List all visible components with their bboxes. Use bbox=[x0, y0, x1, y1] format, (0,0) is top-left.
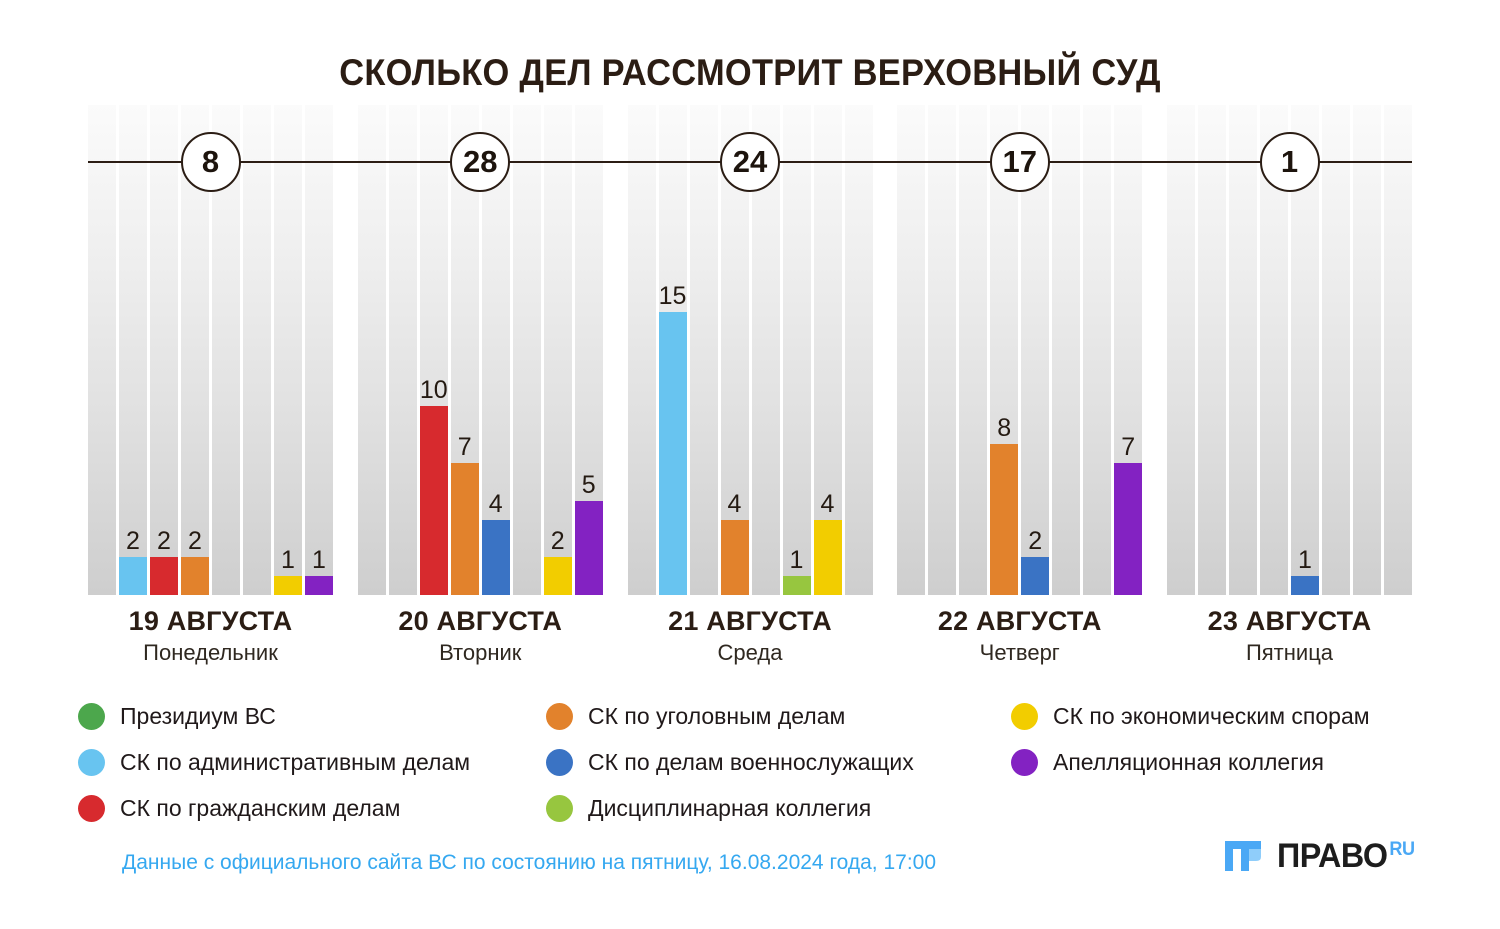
legend-label: Президиум ВС bbox=[120, 705, 276, 728]
day-caption: 22 АВГУСТАЧетверг bbox=[897, 606, 1142, 667]
bar-slot bbox=[1353, 105, 1381, 595]
bar-slot bbox=[1229, 105, 1257, 595]
day-total-badge: 1 bbox=[1260, 132, 1320, 192]
bar-value-label: 2 bbox=[157, 529, 171, 557]
day-date-label: 21 АВГУСТА bbox=[628, 606, 873, 636]
legend-color-swatch-icon bbox=[1011, 749, 1038, 776]
bar[interactable]: 1 bbox=[274, 576, 302, 595]
legend-color-swatch-icon bbox=[78, 795, 105, 822]
legend-column: Президиум ВССК по административным делам… bbox=[78, 700, 546, 825]
day-weekday-label: Четверг bbox=[897, 639, 1142, 667]
day-date-label: 19 АВГУСТА bbox=[88, 606, 333, 636]
bar-slot bbox=[845, 105, 873, 595]
legend-column: СК по уголовным деламСК по делам военнос… bbox=[546, 700, 1011, 825]
bar-slot bbox=[513, 105, 541, 595]
bar[interactable]: 8 bbox=[990, 444, 1018, 595]
bar-value-label: 4 bbox=[489, 492, 503, 520]
legend-item[interactable]: Дисциплинарная коллегия bbox=[546, 792, 1011, 825]
day-caption: 19 АВГУСТАПонедельник bbox=[88, 606, 333, 667]
page-title: СКОЛЬКО ДЕЛ РАССМОТРИТ ВЕРХОВНЫЙ СУД bbox=[53, 52, 1448, 94]
bar-slot bbox=[358, 105, 386, 595]
bar[interactable]: 7 bbox=[451, 463, 479, 595]
bar[interactable]: 1 bbox=[1291, 576, 1319, 595]
bar[interactable]: 2 bbox=[1021, 557, 1049, 595]
day-caption: 21 АВГУСТАСреда bbox=[628, 606, 873, 667]
bar-slot bbox=[959, 105, 987, 595]
bar[interactable]: 2 bbox=[119, 557, 147, 595]
bar-value-label: 7 bbox=[1121, 435, 1135, 463]
day-date-label: 22 АВГУСТА bbox=[897, 606, 1142, 636]
legend-color-swatch-icon bbox=[78, 749, 105, 776]
bar-slot bbox=[897, 105, 925, 595]
bar-slot: 1 bbox=[305, 105, 333, 595]
bar[interactable]: 1 bbox=[783, 576, 811, 595]
bar-slot bbox=[88, 105, 116, 595]
bar-value-label: 1 bbox=[281, 548, 295, 576]
day-caption: 23 АВГУСТАПятница bbox=[1167, 606, 1412, 667]
legend-item[interactable]: СК по делам военнослужащих bbox=[546, 746, 1011, 779]
bar[interactable]: 5 bbox=[575, 501, 603, 595]
bar[interactable]: 10 bbox=[420, 406, 448, 595]
bar-slot bbox=[1384, 105, 1412, 595]
legend-label: СК по гражданским делам bbox=[120, 797, 400, 820]
logo-wordmark: ПРАВОRU bbox=[1277, 839, 1415, 873]
bar-slot: 2 bbox=[119, 105, 147, 595]
bar-slot bbox=[389, 105, 417, 595]
bar-value-label: 1 bbox=[312, 548, 326, 576]
bar-slot: 1 bbox=[274, 105, 302, 595]
bar[interactable]: 4 bbox=[814, 520, 842, 595]
legend-item[interactable]: СК по гражданским делам bbox=[78, 792, 546, 825]
legend-color-swatch-icon bbox=[546, 795, 573, 822]
day-date-label: 20 АВГУСТА bbox=[358, 606, 603, 636]
bar-value-label: 4 bbox=[728, 492, 742, 520]
bar-slot: 10 bbox=[420, 105, 448, 595]
logo-main-text: ПРАВО bbox=[1277, 837, 1388, 875]
bar[interactable]: 4 bbox=[721, 520, 749, 595]
bar-value-label: 1 bbox=[1298, 548, 1312, 576]
bar-slot bbox=[1322, 105, 1350, 595]
legend-color-swatch-icon bbox=[78, 703, 105, 730]
bar-slot bbox=[1198, 105, 1226, 595]
bar-slot: 5 bbox=[575, 105, 603, 595]
legend-color-swatch-icon bbox=[546, 749, 573, 776]
legend-column: СК по экономическим спорамАпелляционная … bbox=[1011, 700, 1471, 825]
legend-label: СК по административным делам bbox=[120, 751, 470, 774]
legend-label: СК по экономическим спорам bbox=[1053, 705, 1370, 728]
legend-item[interactable]: СК по уголовным делам bbox=[546, 700, 1011, 733]
bar[interactable]: 4 bbox=[482, 520, 510, 595]
totals-timeline: 82824171 bbox=[88, 161, 1412, 163]
day-weekday-label: Понедельник bbox=[88, 639, 333, 667]
bar-slot bbox=[243, 105, 271, 595]
infographic-root: СКОЛЬКО ДЕЛ РАССМОТРИТ ВЕРХОВНЫЙ СУД 222… bbox=[0, 0, 1500, 929]
bar-value-label: 15 bbox=[659, 284, 687, 312]
legend-label: СК по делам военнослужащих bbox=[588, 751, 914, 774]
bar-slot: 2 bbox=[544, 105, 572, 595]
day-weekday-label: Среда bbox=[628, 639, 873, 667]
bar[interactable]: 2 bbox=[150, 557, 178, 595]
bar-value-label: 2 bbox=[551, 529, 565, 557]
day-captions: 19 АВГУСТАПонедельник20 АВГУСТАВторник21… bbox=[88, 606, 1412, 667]
day-total-badge: 24 bbox=[720, 132, 780, 192]
legend-label: Дисциплинарная коллегия bbox=[588, 797, 871, 820]
legend-label: Апелляционная коллегия bbox=[1053, 751, 1324, 774]
day-total-badge: 28 bbox=[450, 132, 510, 192]
bar-value-label: 2 bbox=[1028, 529, 1042, 557]
day-date-label: 23 АВГУСТА bbox=[1167, 606, 1412, 636]
bar-slot: 2 bbox=[150, 105, 178, 595]
bar-slot bbox=[1052, 105, 1080, 595]
pravo-ru-logo[interactable]: ПРАВОRU bbox=[1223, 838, 1422, 874]
bar-slot: 1 bbox=[783, 105, 811, 595]
bar-value-label: 7 bbox=[458, 435, 472, 463]
bar-slot bbox=[1083, 105, 1111, 595]
legend-label: СК по уголовным делам bbox=[588, 705, 845, 728]
day-total-badge: 17 bbox=[990, 132, 1050, 192]
legend-item[interactable]: СК по административным делам bbox=[78, 746, 546, 779]
footer-source-note: Данные с официального сайта ВС по состоя… bbox=[122, 851, 936, 875]
bar[interactable]: 15 bbox=[659, 312, 687, 595]
day-weekday-label: Пятница bbox=[1167, 639, 1412, 667]
bar[interactable]: 1 bbox=[305, 576, 333, 595]
bar[interactable]: 2 bbox=[181, 557, 209, 595]
bar-slot: 15 bbox=[659, 105, 687, 595]
bar[interactable]: 2 bbox=[544, 557, 572, 595]
bar-value-label: 2 bbox=[126, 529, 140, 557]
bar-value-label: 2 bbox=[188, 529, 202, 557]
day-caption: 20 АВГУСТАВторник bbox=[358, 606, 603, 667]
bar[interactable]: 7 bbox=[1114, 463, 1142, 595]
day-weekday-label: Вторник bbox=[358, 639, 603, 667]
legend-color-swatch-icon bbox=[1011, 703, 1038, 730]
bar-slot bbox=[928, 105, 956, 595]
bar-slot bbox=[628, 105, 656, 595]
bar-slot: 4 bbox=[814, 105, 842, 595]
bar-value-label: 5 bbox=[582, 473, 596, 501]
bar-value-label: 10 bbox=[420, 378, 448, 406]
bar-value-label: 1 bbox=[790, 548, 804, 576]
bar-value-label: 4 bbox=[821, 492, 835, 520]
bar-value-label: 8 bbox=[997, 416, 1011, 444]
legend-item[interactable]: СК по экономическим спорам bbox=[1011, 700, 1471, 733]
logo-ru-suffix: RU bbox=[1390, 839, 1415, 860]
chart-legend: Президиум ВССК по административным делам… bbox=[78, 700, 1478, 825]
legend-item[interactable]: Апелляционная коллегия bbox=[1011, 746, 1471, 779]
bar-slot bbox=[690, 105, 718, 595]
bar-slot: 7 bbox=[1114, 105, 1142, 595]
bar-slot bbox=[1167, 105, 1195, 595]
legend-color-swatch-icon bbox=[546, 703, 573, 730]
pravo-logo-icon bbox=[1223, 838, 1265, 874]
legend-item[interactable]: Президиум ВС bbox=[78, 700, 546, 733]
day-total-badge: 8 bbox=[181, 132, 241, 192]
